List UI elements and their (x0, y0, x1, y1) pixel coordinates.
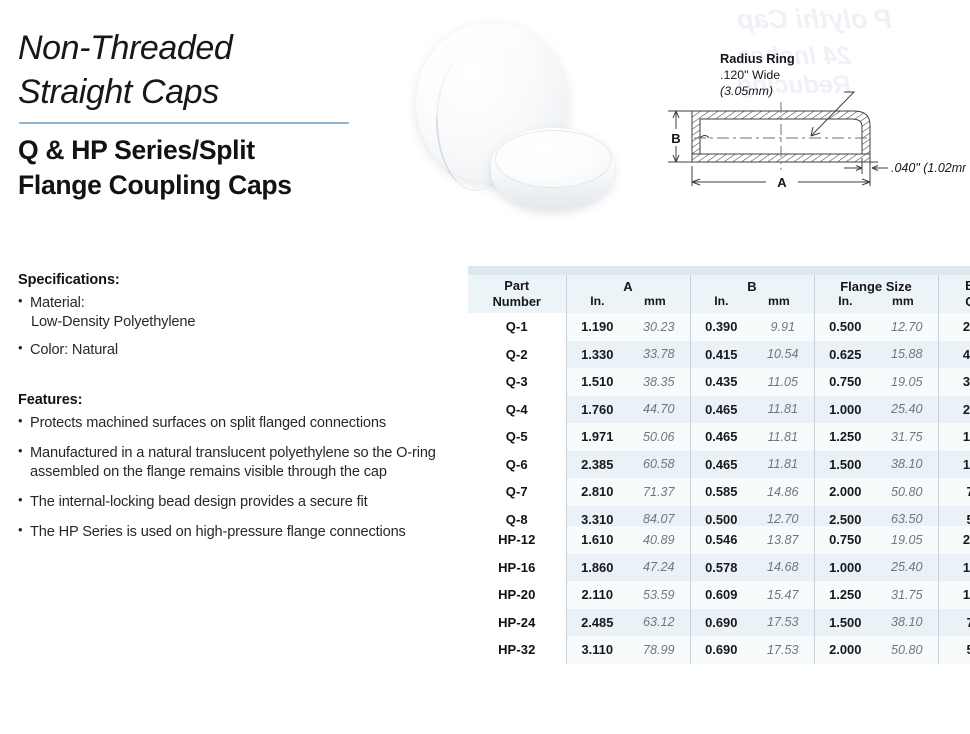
cell-box-qty: 1700 (938, 423, 970, 451)
cell-a-in: 1.971 (566, 423, 628, 451)
cell-b-in: 0.690 (690, 609, 752, 637)
col-header-flange-size: Flange Size In. mm (814, 275, 938, 313)
hp-series-body: HP-121.61040.890.54613.870.75019.052200H… (468, 526, 970, 664)
cell-a-mm: 71.37 (628, 478, 690, 506)
cell-part-number: Q-5 (468, 423, 566, 451)
cell-flange-in: 0.750 (814, 526, 876, 554)
cell-box-qty: 750 (938, 478, 970, 506)
cell-a-mm: 63.12 (628, 609, 690, 637)
cell-b-mm: 14.68 (752, 554, 814, 582)
list-item: Protects machined surfaces on split flan… (18, 414, 458, 433)
cell-flange-mm: 19.05 (876, 368, 938, 396)
cell-flange-in: 0.500 (814, 313, 876, 341)
cell-a-in: 1.860 (566, 554, 628, 582)
cell-box-qty: 1200 (938, 451, 970, 479)
cell-flange-mm: 38.10 (876, 451, 938, 479)
cell-b-mm: 17.53 (752, 609, 814, 637)
features-list: Protects machined surfaces on split flan… (18, 414, 458, 553)
table-row: HP-161.86047.240.57814.681.00025.401600 (468, 554, 970, 582)
cell-flange-in: 1.000 (814, 396, 876, 424)
cell-flange-in: 2.000 (814, 478, 876, 506)
cell-b-in: 0.390 (690, 313, 752, 341)
specifications-list: Material: Low-Density Polyethylene Color… (18, 294, 438, 369)
cell-flange-in: 1.500 (814, 609, 876, 637)
cell-flange-mm: 19.05 (876, 526, 938, 554)
col-header-flange-in: In. (838, 294, 852, 309)
cell-part-number: HP-32 (468, 636, 566, 664)
catalog-page: P olythi Cap 24 Inches Reducing Non-Thre… (0, 0, 970, 734)
cell-b-in: 0.465 (690, 451, 752, 479)
spec-label: Color: Natural (30, 342, 118, 358)
cell-a-in: 1.510 (566, 368, 628, 396)
list-item: Color: Natural (18, 341, 438, 360)
cell-a-mm: 40.89 (628, 526, 690, 554)
col-header-a-label: A (567, 279, 690, 295)
title-divider-rule (19, 122, 349, 124)
col-header-part-number: Part Number (468, 275, 566, 313)
cell-box-qty: 750 (938, 609, 970, 637)
cell-b-mm: 10.54 (752, 341, 814, 369)
cell-part-number: Q-7 (468, 478, 566, 506)
cell-box-qty: 2200 (938, 526, 970, 554)
cell-part-number: HP-12 (468, 526, 566, 554)
list-item: The HP Series is used on high-pressure f… (18, 523, 458, 542)
table-row: HP-202.11053.590.60915.471.25031.751200 (468, 581, 970, 609)
specifications-title: Specifications: (18, 272, 120, 288)
cell-box-qty: 3000 (938, 368, 970, 396)
cell-a-mm: 50.06 (628, 423, 690, 451)
cell-flange-mm: 50.80 (876, 478, 938, 506)
table-row: Q-41.76044.700.46511.811.00025.402000 (468, 396, 970, 424)
cell-flange-mm: 38.10 (876, 609, 938, 637)
table-row: Q-62.38560.580.46511.811.50038.101200 (468, 451, 970, 479)
cell-box-qty: 1200 (938, 581, 970, 609)
col-header-box-qty: Box Qty. (938, 275, 970, 313)
q-series-body: Q-11.19030.230.3909.910.50012.702500Q-21… (468, 313, 970, 533)
diagram-label-a: A (777, 175, 787, 190)
spec-sub: Low-Density Polyethylene (30, 313, 438, 332)
page-title-italic: Non-Threaded Straight Caps (18, 26, 232, 114)
cap-small-image (491, 128, 614, 210)
cell-a-in: 1.760 (566, 396, 628, 424)
table-row: Q-72.81071.370.58514.862.00050.80750 (468, 478, 970, 506)
cell-flange-in: 0.625 (814, 341, 876, 369)
cell-b-in: 0.435 (690, 368, 752, 396)
cell-b-mm: 13.87 (752, 526, 814, 554)
col-header-b-mm: mm (768, 294, 790, 309)
cell-flange-in: 1.250 (814, 423, 876, 451)
list-item: Manufactured in a natural translucent po… (18, 444, 458, 482)
cell-b-mm: 15.47 (752, 581, 814, 609)
cell-flange-in: 1.250 (814, 581, 876, 609)
cell-part-number: Q-3 (468, 368, 566, 396)
cell-part-number: HP-24 (468, 609, 566, 637)
bleed-line-1: P olythi Cap (737, 4, 962, 36)
cell-b-in: 0.415 (690, 341, 752, 369)
table-row: Q-21.33033.780.41510.540.62515.884000 (468, 341, 970, 369)
cell-b-mm: 14.86 (752, 478, 814, 506)
spec-label: Material: (30, 295, 85, 311)
cell-a-in: 2.385 (566, 451, 628, 479)
cell-a-in: 2.810 (566, 478, 628, 506)
cell-a-in: 3.110 (566, 636, 628, 664)
table-row: Q-11.19030.230.3909.910.50012.702500 (468, 313, 970, 341)
cell-a-mm: 33.78 (628, 341, 690, 369)
cell-a-in: 1.610 (566, 526, 628, 554)
cell-b-mm: 11.81 (752, 396, 814, 424)
cell-b-mm: 11.81 (752, 423, 814, 451)
table-row: HP-242.48563.120.69017.531.50038.10750 (468, 609, 970, 637)
cell-flange-mm: 31.75 (876, 423, 938, 451)
diagram-radius-ring-title: Radius Ring (720, 51, 795, 66)
list-item: Material: Low-Density Polyethylene (18, 294, 438, 332)
cap-small-top-face (495, 130, 612, 188)
cell-b-in: 0.585 (690, 478, 752, 506)
table-header-band (468, 266, 970, 275)
cell-flange-mm: 31.75 (876, 581, 938, 609)
cell-a-mm: 53.59 (628, 581, 690, 609)
col-header-a-in: In. (590, 294, 604, 309)
col-header-flange-mm: mm (892, 294, 914, 309)
cell-flange-mm: 25.40 (876, 554, 938, 582)
cell-a-mm: 38.35 (628, 368, 690, 396)
col-header-a-mm: mm (644, 294, 666, 309)
cell-part-number: Q-4 (468, 396, 566, 424)
cell-a-mm: 30.23 (628, 313, 690, 341)
cell-box-qty: 1600 (938, 554, 970, 582)
cell-box-qty: 500 (938, 636, 970, 664)
cell-flange-mm: 15.88 (876, 341, 938, 369)
cell-box-qty: 2000 (938, 396, 970, 424)
cell-box-qty: 2500 (938, 313, 970, 341)
cell-a-mm: 78.99 (628, 636, 690, 664)
product-photo (398, 8, 648, 253)
cell-b-in: 0.465 (690, 396, 752, 424)
cell-a-in: 1.190 (566, 313, 628, 341)
cell-flange-mm: 50.80 (876, 636, 938, 664)
cell-flange-mm: 25.40 (876, 396, 938, 424)
col-header-b-in: In. (714, 294, 728, 309)
cell-a-mm: 47.24 (628, 554, 690, 582)
cell-part-number: Q-2 (468, 341, 566, 369)
col-header-b: B In. mm (690, 275, 814, 313)
cell-part-number: HP-20 (468, 581, 566, 609)
diagram-radius-ring-width: .120" Wide (720, 68, 780, 82)
cell-a-in: 2.485 (566, 609, 628, 637)
cell-b-in: 0.690 (690, 636, 752, 664)
table-row: HP-121.61040.890.54613.870.75019.052200 (468, 526, 970, 554)
cell-box-qty: 4000 (938, 341, 970, 369)
cell-b-mm: 11.05 (752, 368, 814, 396)
cross-section-diagram: B A .040" (1.02mm) Rad (648, 50, 966, 195)
col-header-a: A In. mm (566, 275, 690, 313)
cell-b-in: 0.465 (690, 423, 752, 451)
diagram-wall-callout: .040" (1.02mm) (891, 161, 966, 175)
hp-series-table: HP-121.61040.890.54613.870.75019.052200H… (468, 526, 970, 664)
cell-part-number: Q-1 (468, 313, 566, 341)
cell-part-number: HP-16 (468, 554, 566, 582)
cell-b-in: 0.578 (690, 554, 752, 582)
list-item: The internal-locking bead design provide… (18, 493, 458, 512)
cell-b-in: 0.546 (690, 526, 752, 554)
diagram-label-b: B (671, 131, 680, 146)
cell-a-in: 2.110 (566, 581, 628, 609)
table-row: HP-323.11078.990.69017.532.00050.80500 (468, 636, 970, 664)
cell-b-mm: 9.91 (752, 313, 814, 341)
page-title-bold: Q & HP Series/Split Flange Coupling Caps (18, 133, 292, 202)
cell-flange-in: 1.000 (814, 554, 876, 582)
cell-b-mm: 17.53 (752, 636, 814, 664)
cell-b-mm: 11.81 (752, 451, 814, 479)
cell-flange-in: 2.000 (814, 636, 876, 664)
cell-flange-in: 1.500 (814, 451, 876, 479)
diagram-radius-ring-mm: (3.05mm) (720, 84, 773, 98)
col-header-b-label: B (691, 279, 814, 295)
col-header-flange-label: Flange Size (815, 279, 938, 295)
cell-a-in: 1.330 (566, 341, 628, 369)
table-header-row: Part Number A In. mm B In. mm Fla (468, 275, 970, 313)
cell-flange-mm: 12.70 (876, 313, 938, 341)
cell-a-mm: 60.58 (628, 451, 690, 479)
cell-part-number: Q-6 (468, 451, 566, 479)
table-head: Part Number A In. mm B In. mm Fla (468, 266, 970, 313)
q-series-table: Part Number A In. mm B In. mm Fla (468, 266, 970, 533)
cell-a-mm: 44.70 (628, 396, 690, 424)
cell-flange-in: 0.750 (814, 368, 876, 396)
cell-b-in: 0.609 (690, 581, 752, 609)
features-title: Features: (18, 392, 82, 408)
table-row: Q-51.97150.060.46511.811.25031.751700 (468, 423, 970, 451)
table-row: Q-31.51038.350.43511.050.75019.053000 (468, 368, 970, 396)
